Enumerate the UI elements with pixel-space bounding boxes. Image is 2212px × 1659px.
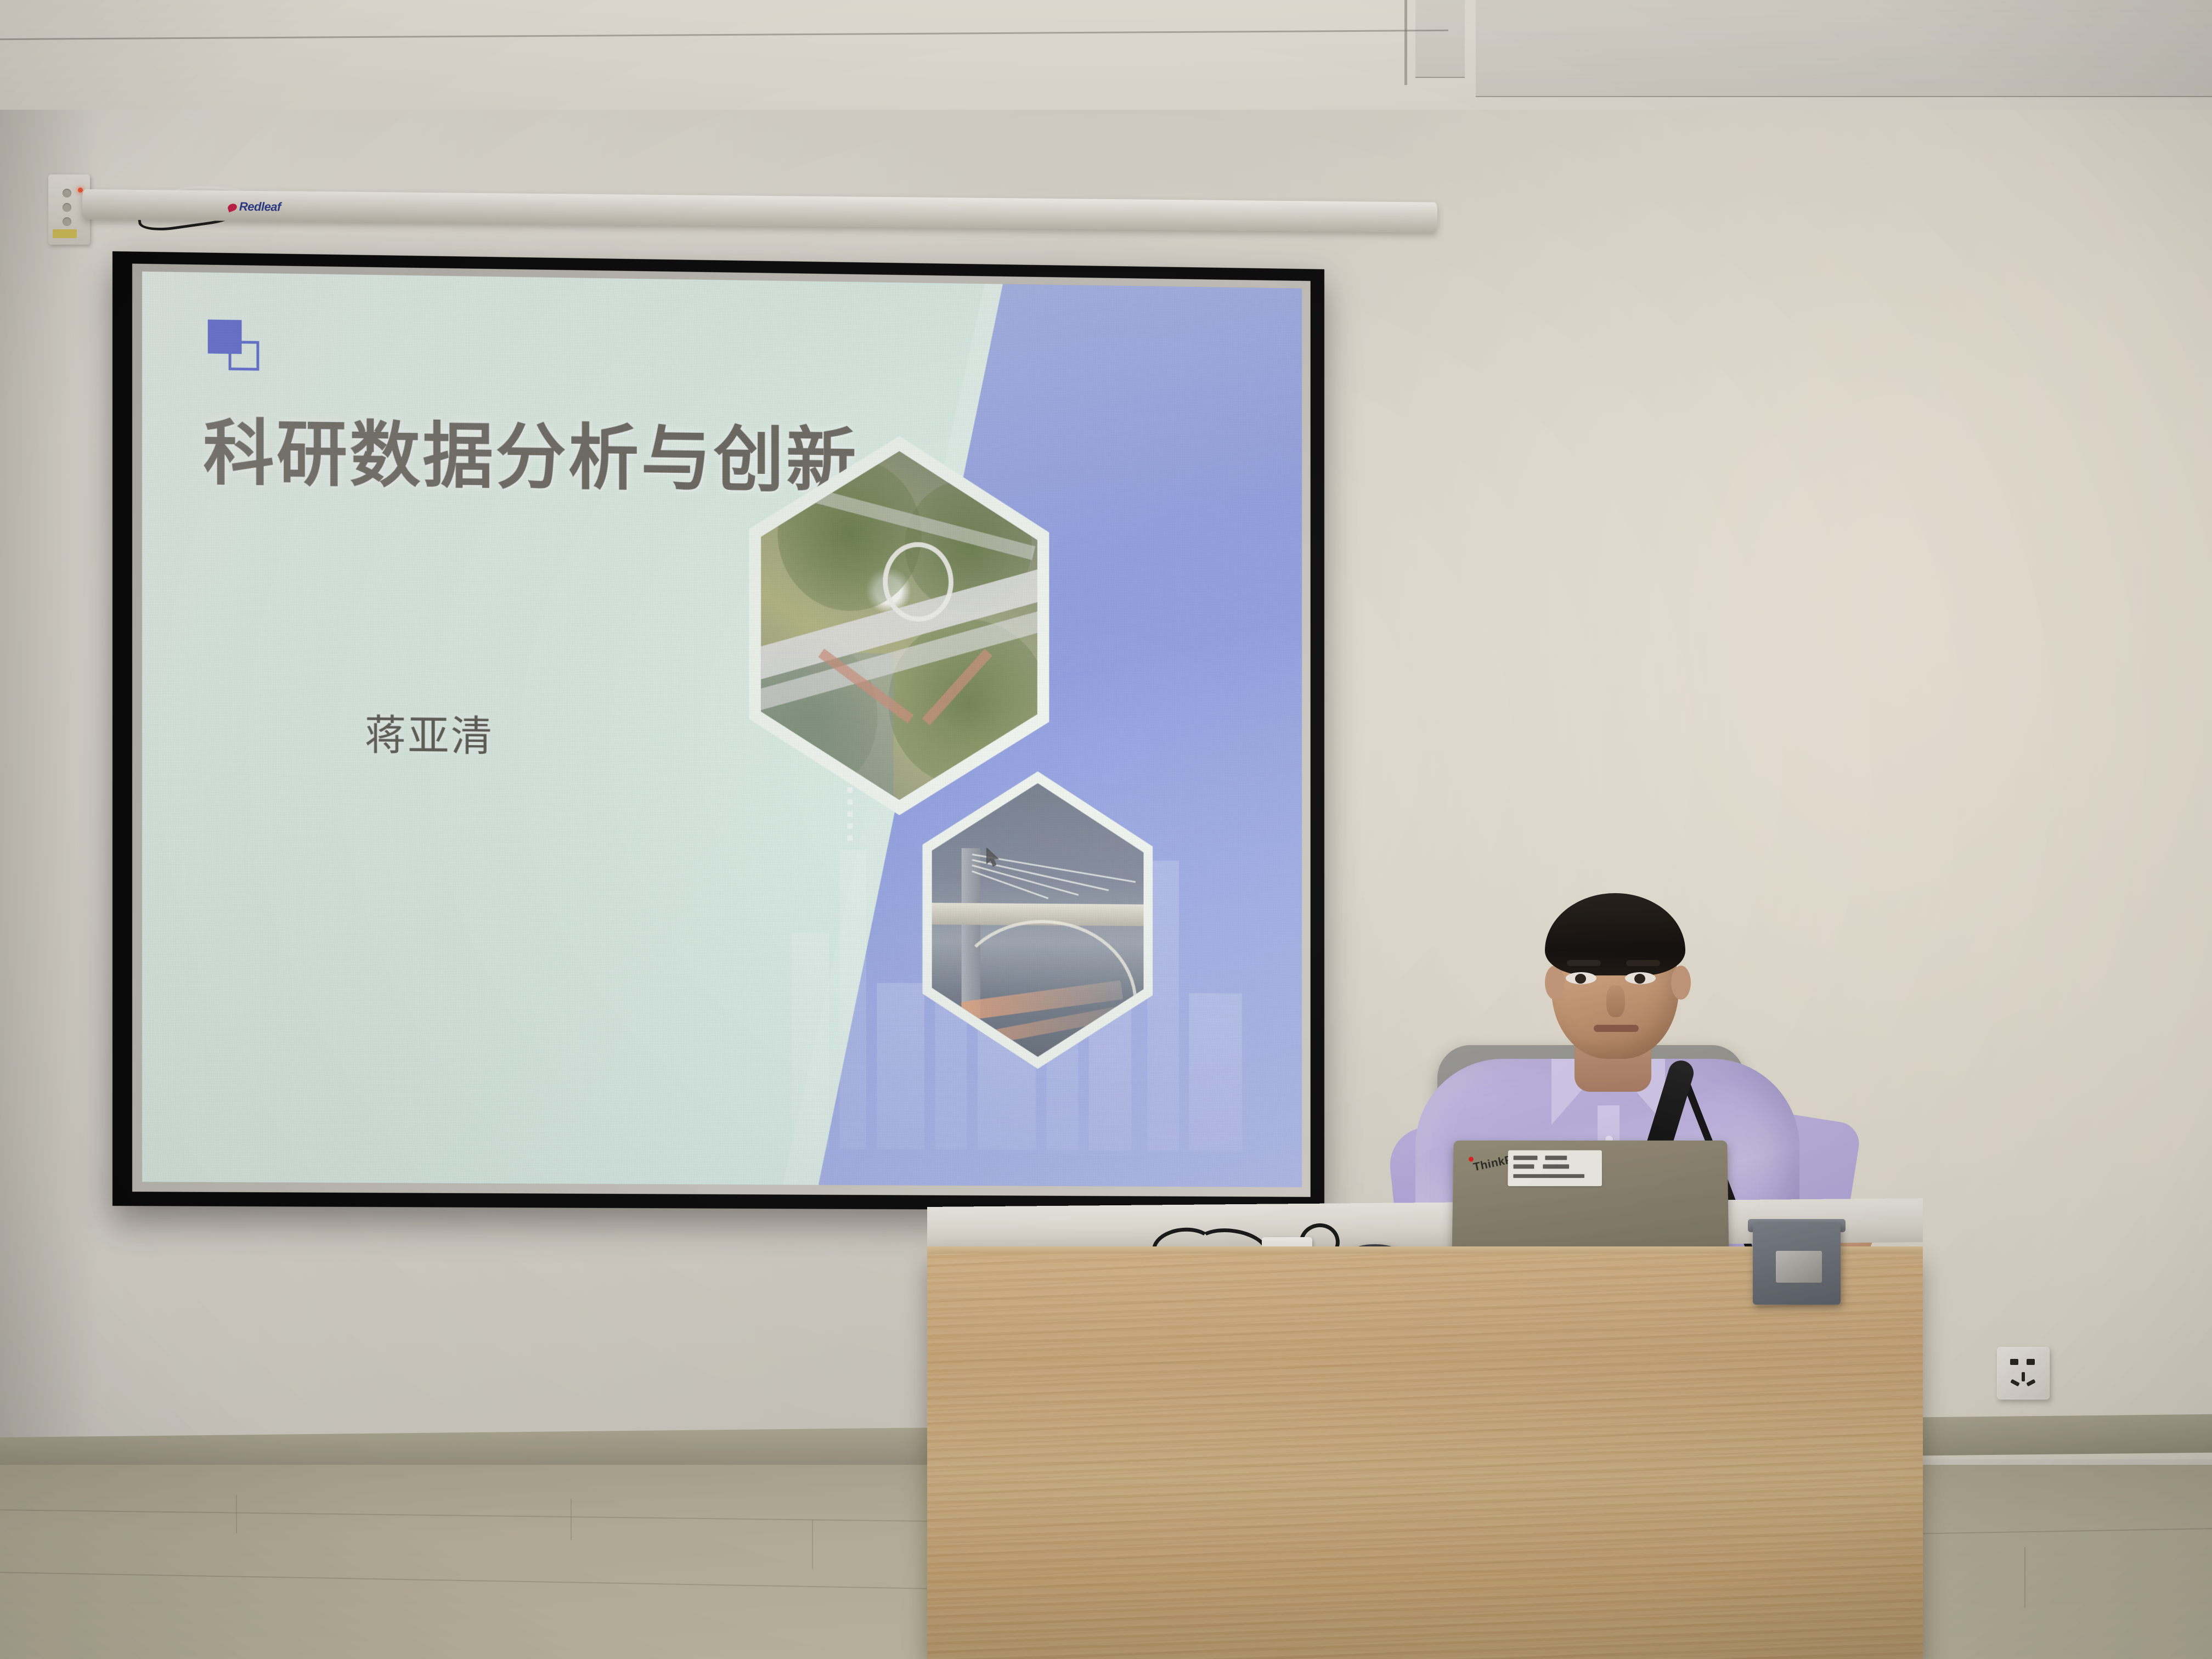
floor-seam xyxy=(2024,1547,2025,1607)
wall-socket[interactable] xyxy=(1997,1347,2050,1400)
hexagon-frame xyxy=(922,770,1153,1069)
floor-seam xyxy=(571,1499,572,1540)
logo-outline-square xyxy=(229,341,259,371)
leaf-icon xyxy=(227,202,238,212)
hexagon-image-interchange xyxy=(749,434,1049,816)
socket-slot xyxy=(2010,1379,2019,1387)
eyebrow-right xyxy=(1626,960,1660,966)
socket-slot xyxy=(2027,1359,2035,1365)
laptop-asset-sticker xyxy=(1508,1150,1602,1186)
eye-right xyxy=(1625,972,1656,984)
floor-seam xyxy=(0,1572,933,1589)
ceiling-seam-2 xyxy=(1404,0,1407,85)
presentation-room-photo: Redleaf xyxy=(0,0,2212,1659)
projection-screen: 科研数据分析与创新 蒋亚清 xyxy=(112,251,1324,1211)
mouth xyxy=(1594,1025,1639,1032)
floor-seam xyxy=(812,1520,813,1569)
screen-brand-label: Redleaf xyxy=(228,200,281,215)
screen-inner-border: 科研数据分析与创新 蒋亚清 xyxy=(132,264,1311,1197)
screen-stop-button[interactable] xyxy=(63,203,71,212)
hair xyxy=(1545,893,1685,975)
presentation-slide: 科研数据分析与创新 蒋亚清 xyxy=(142,272,1302,1187)
power-led-icon xyxy=(78,188,83,193)
slide-presenter-name: 蒋亚清 xyxy=(365,702,494,763)
wood-grain-texture xyxy=(927,1254,1923,1659)
socket-slot xyxy=(2026,1379,2035,1387)
ceiling-panel-left xyxy=(1415,0,1465,78)
hexagon-image-bridge xyxy=(922,770,1153,1069)
eyebrow-left xyxy=(1567,960,1601,966)
socket-slot xyxy=(2010,1359,2018,1365)
podium-desk xyxy=(927,1254,1923,1659)
control-box-label xyxy=(53,229,77,238)
floor-seam xyxy=(0,1509,966,1522)
hexagon-photo xyxy=(761,449,1037,801)
hexagon-photo xyxy=(932,782,1143,1058)
microphone-base-label xyxy=(1776,1251,1822,1283)
ear-right xyxy=(1671,966,1691,1000)
screen-up-button[interactable] xyxy=(63,189,71,198)
floor-seam xyxy=(236,1495,237,1533)
eye-left xyxy=(1566,972,1596,984)
ceiling-panel-center xyxy=(1476,0,2212,97)
socket-slot xyxy=(2022,1372,2025,1381)
floor-seam xyxy=(1909,1528,2212,1534)
hexagon-frame xyxy=(749,434,1049,816)
screen-down-button[interactable] xyxy=(63,217,71,226)
nose xyxy=(1606,985,1625,1017)
slide-logo-icon xyxy=(208,320,255,368)
